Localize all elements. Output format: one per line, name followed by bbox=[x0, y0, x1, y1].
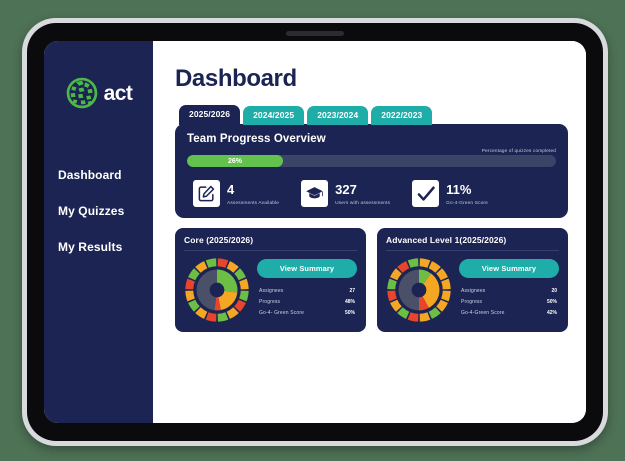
card-body: View Summary Assignees 20 Progress bbox=[386, 257, 559, 323]
progress-caption: Percentage of quizzes completed bbox=[187, 148, 556, 153]
stat-label: Go-4-Green Score bbox=[446, 201, 488, 206]
donut-chart-advanced bbox=[386, 257, 452, 323]
tablet-camera-speaker bbox=[286, 31, 344, 36]
stat-go4green-score: 11% Go-4-Green Score bbox=[412, 180, 488, 207]
metric-go4green-score: Go-4- Green Score 50% bbox=[257, 307, 357, 318]
view-summary-button[interactable]: View Summary bbox=[257, 259, 357, 278]
sidebar-item-my-quizzes[interactable]: My Quizzes bbox=[44, 193, 153, 229]
card-details: View Summary Assignees 20 Progress bbox=[459, 257, 559, 318]
card-details: View Summary Assignees 27 Progress bbox=[257, 257, 357, 318]
metric-label: Go-4-Green Score bbox=[461, 310, 505, 316]
edit-square-icon bbox=[193, 180, 220, 207]
year-tab-bar: 2025/2026 2024/2025 2023/2024 2022/2023 bbox=[175, 105, 568, 125]
stat-value: 327 bbox=[335, 182, 357, 197]
progress-bar-value: 26% bbox=[228, 158, 242, 165]
donut-chart-core bbox=[184, 257, 250, 323]
course-card-advanced-level-1: Advanced Level 1(2025/2026) View Summary… bbox=[377, 228, 568, 332]
stat-label: Assessments Available bbox=[227, 201, 279, 206]
team-progress-overview-panel: Team Progress Overview Percentage of qui… bbox=[175, 124, 568, 218]
metric-value: 42% bbox=[547, 310, 557, 316]
sidebar-nav: Dashboard My Quizzes My Results bbox=[44, 157, 153, 265]
tablet-screen: act Dashboard My Quizzes My Results Dash… bbox=[44, 41, 586, 423]
course-card-core: Core (2025/2026) View Summary Assignees … bbox=[175, 228, 366, 332]
metric-label: Progress bbox=[259, 299, 280, 305]
tablet-device-frame: act Dashboard My Quizzes My Results Dash… bbox=[22, 18, 608, 446]
course-card-row: Core (2025/2026) View Summary Assignees … bbox=[175, 228, 568, 332]
metric-progress: Progress 50% bbox=[459, 296, 559, 307]
card-title: Core (2025/2026) bbox=[184, 235, 357, 251]
check-mark-icon bbox=[412, 180, 439, 207]
metric-assignees: Assignees 20 bbox=[459, 285, 559, 296]
metric-label: Assignees bbox=[461, 288, 485, 294]
card-title: Advanced Level 1(2025/2026) bbox=[386, 235, 559, 251]
metric-label: Progress bbox=[461, 299, 482, 305]
tab-2024-2025[interactable]: 2024/2025 bbox=[243, 106, 304, 125]
progress-bar-fill: 26% bbox=[187, 155, 283, 167]
metric-value: 48% bbox=[345, 299, 355, 305]
metric-label: Go-4- Green Score bbox=[259, 310, 304, 316]
stat-row: 4 Assessments Available bbox=[187, 180, 556, 207]
card-body: View Summary Assignees 27 Progress bbox=[184, 257, 357, 323]
stat-text: 11% Go-4-Green Score bbox=[446, 181, 488, 206]
metric-value: 20 bbox=[551, 288, 557, 294]
metric-assignees: Assignees 27 bbox=[257, 285, 357, 296]
view-summary-button[interactable]: View Summary bbox=[459, 259, 559, 278]
stat-label: Users with assessments bbox=[335, 201, 390, 206]
brand-wordmark: act bbox=[104, 83, 133, 104]
metric-list: Assignees 27 Progress 48% Go bbox=[257, 285, 357, 318]
progress-bar-track: 26% bbox=[187, 155, 556, 167]
metric-value: 50% bbox=[345, 310, 355, 316]
stat-value: 4 bbox=[227, 182, 234, 197]
main-content: Dashboard 2025/2026 2024/2025 2023/2024 … bbox=[153, 41, 586, 423]
sidebar-item-dashboard[interactable]: Dashboard bbox=[44, 157, 153, 193]
stat-value: 11% bbox=[446, 182, 471, 197]
overview-title: Team Progress Overview bbox=[187, 133, 556, 145]
metric-value: 27 bbox=[349, 288, 355, 294]
metric-label: Assignees bbox=[259, 288, 283, 294]
sidebar: act Dashboard My Quizzes My Results bbox=[44, 41, 153, 423]
brand-logo-block: act bbox=[44, 67, 153, 119]
metric-progress: Progress 48% bbox=[257, 296, 357, 307]
metric-list: Assignees 20 Progress 50% Go bbox=[459, 285, 559, 318]
tablet-bezel: act Dashboard My Quizzes My Results Dash… bbox=[27, 23, 603, 441]
green-globe-recycle-icon bbox=[65, 76, 99, 110]
metric-value: 50% bbox=[547, 299, 557, 305]
graduation-cap-icon bbox=[301, 180, 328, 207]
tab-2023-2024[interactable]: 2023/2024 bbox=[307, 106, 368, 125]
page-title: Dashboard bbox=[175, 65, 568, 93]
stat-assessments-available: 4 Assessments Available bbox=[193, 180, 279, 207]
sidebar-item-my-results[interactable]: My Results bbox=[44, 229, 153, 265]
screenshot-scene: act Dashboard My Quizzes My Results Dash… bbox=[0, 0, 625, 461]
tab-2022-2023[interactable]: 2022/2023 bbox=[371, 106, 432, 125]
tab-2025-2026[interactable]: 2025/2026 bbox=[179, 105, 240, 125]
metric-go4green-score: Go-4-Green Score 42% bbox=[459, 307, 559, 318]
stat-text: 4 Assessments Available bbox=[227, 181, 279, 206]
stat-text: 327 Users with assessments bbox=[335, 181, 390, 206]
stat-users-with-assessments: 327 Users with assessments bbox=[301, 180, 390, 207]
